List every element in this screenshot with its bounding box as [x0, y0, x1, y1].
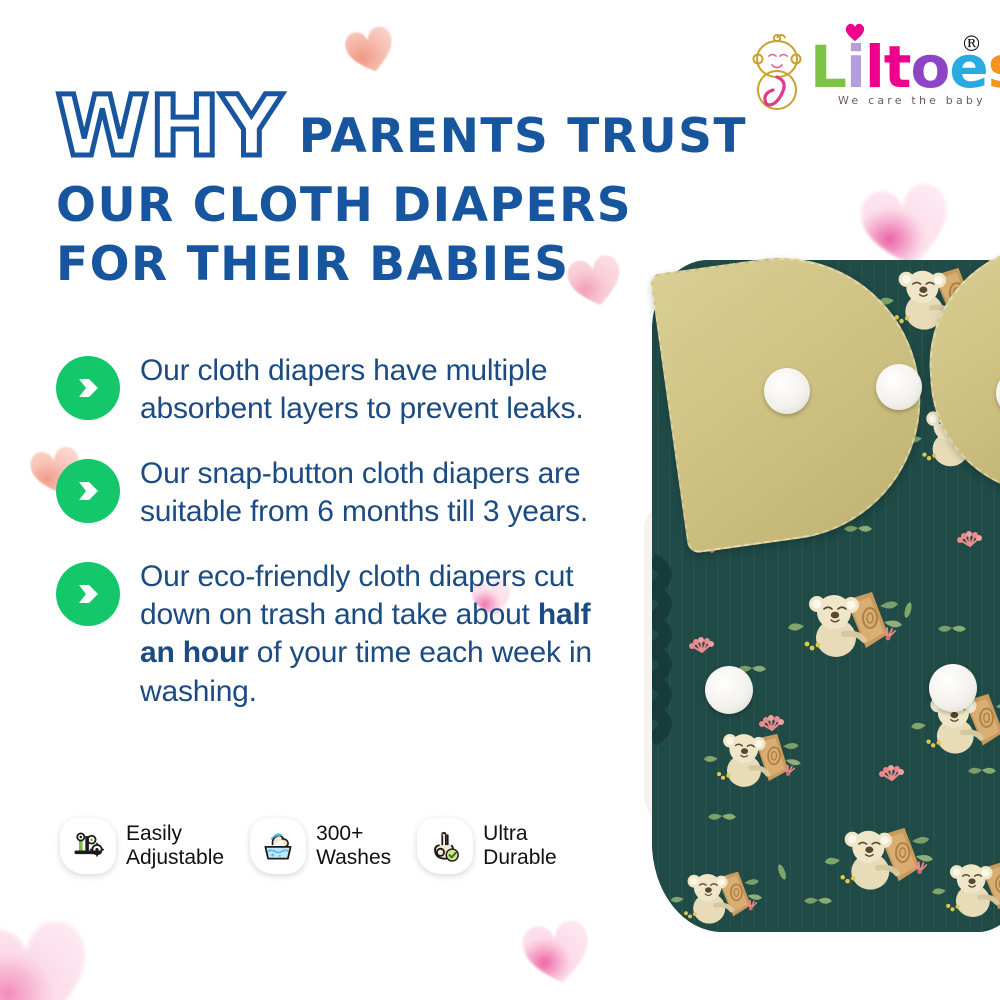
feature-badge-label: 300+ Washes: [316, 822, 391, 870]
benefit-text-pre: Our cloth diapers have multiple absorben…: [140, 354, 583, 425]
hand-wash-basin-icon: [250, 818, 306, 874]
logo-letter-l: l: [865, 38, 884, 96]
registered-trademark-mark: ®: [961, 32, 982, 56]
snap-button: [764, 368, 810, 414]
chevron-right-banner-icon: [56, 459, 120, 523]
headline-line-1-rest: PARENTS TRUST: [299, 115, 747, 170]
snap-button: [705, 666, 753, 714]
feature-badge-easily-adjustable: Easily Adjustable: [60, 818, 224, 874]
headline-outlined-word: WHY: [56, 84, 283, 170]
headline-line-3: FOR THEIR BABIES: [56, 243, 696, 286]
feature-badge-washes-count: 300+ Washes: [250, 818, 391, 874]
gears-settings-icon: [60, 818, 116, 874]
baby-face-icon: [744, 32, 810, 114]
headline-line-1: WHY PARENTS TRUST: [56, 84, 696, 170]
logo-letter-t: t: [884, 38, 911, 96]
heart-bottom-mid-icon: [514, 910, 599, 992]
feature-badges: Easily Adjustable300+ WashesUltra Durabl…: [60, 818, 557, 874]
benefit-item-absorbent-layers: Our cloth diapers have multiple absorben…: [56, 352, 626, 429]
benefit-text-pre: Our snap-button cloth diapers are suitab…: [140, 457, 588, 528]
heart-icon: [844, 22, 866, 42]
brand-logo: Liltoes We care the baby ®: [742, 26, 982, 122]
benefit-item-eco-friendly-washing: Our eco-friendly cloth diapers cut down …: [56, 558, 626, 712]
feature-badge-label: Easily Adjustable: [126, 822, 224, 870]
heart-top-left-icon: [339, 18, 402, 79]
logo-letter-L: L: [810, 38, 846, 96]
ok-hand-check-icon: [417, 818, 473, 874]
logo-letter-o: o: [910, 38, 949, 96]
snap-button: [876, 364, 922, 410]
benefits-list: Our cloth diapers have multiple absorben…: [56, 352, 626, 737]
benefit-text: Our eco-friendly cloth diapers cut down …: [140, 558, 626, 712]
feature-badge-label: Ultra Durable: [483, 822, 557, 870]
benefit-text: Our cloth diapers have multiple absorben…: [140, 352, 626, 429]
snap-button: [929, 664, 977, 712]
logo-letter-i: i: [846, 38, 865, 96]
heart-bottom-left-icon: [0, 904, 102, 1000]
benefit-item-snap-button-sizing: Our snap-button cloth diapers are suitab…: [56, 455, 626, 532]
chevron-right-banner-icon: [56, 562, 120, 626]
logo-letter-s: s: [988, 38, 1000, 96]
chevron-right-banner-icon: [56, 356, 120, 420]
feature-badge-ultra-durable: Ultra Durable: [417, 818, 557, 874]
product-image: [628, 248, 1000, 948]
headline-line-2: OUR CLOTH DIAPERS: [56, 184, 696, 227]
page-title: WHY PARENTS TRUST OUR CLOTH DIAPERS FOR …: [56, 84, 696, 286]
promo-poster: Liltoes We care the baby ® WHY PARENTS T…: [0, 0, 1000, 1000]
benefit-text: Our snap-button cloth diapers are suitab…: [140, 455, 626, 532]
brand-tagline: We care the baby: [838, 94, 986, 107]
benefit-text-pre: Our eco-friendly cloth diapers cut down …: [140, 560, 573, 631]
